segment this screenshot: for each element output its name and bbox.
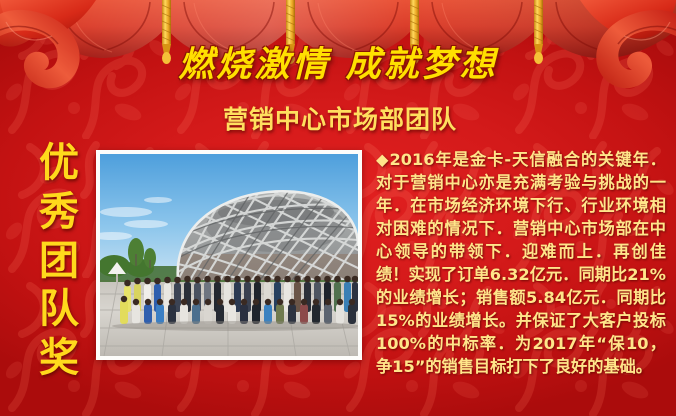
team-photo-frame [96,150,362,360]
award-label-char: 优 [36,139,82,188]
team-photo [100,154,358,356]
achievement-body-text: ◆2016年是金卡-天信融合的关键年．对于营销中心亦是充满考验与挑战的一年．在市… [376,148,666,378]
award-label-char: 秀 [36,188,82,237]
award-label-char: 队 [36,285,82,334]
award-label-char: 团 [36,237,82,286]
award-label-vertical: 优 秀 团 队 奖 [36,139,82,383]
page-title: 燃烧激情 成就梦想 [0,36,676,87]
award-poster: 燃烧激情 成就梦想 营销中心市场部团队 优 秀 团 队 奖 [0,0,676,416]
team-subtitle: 营销中心市场部团队 [100,100,580,136]
award-label-char: 奖 [36,334,82,383]
